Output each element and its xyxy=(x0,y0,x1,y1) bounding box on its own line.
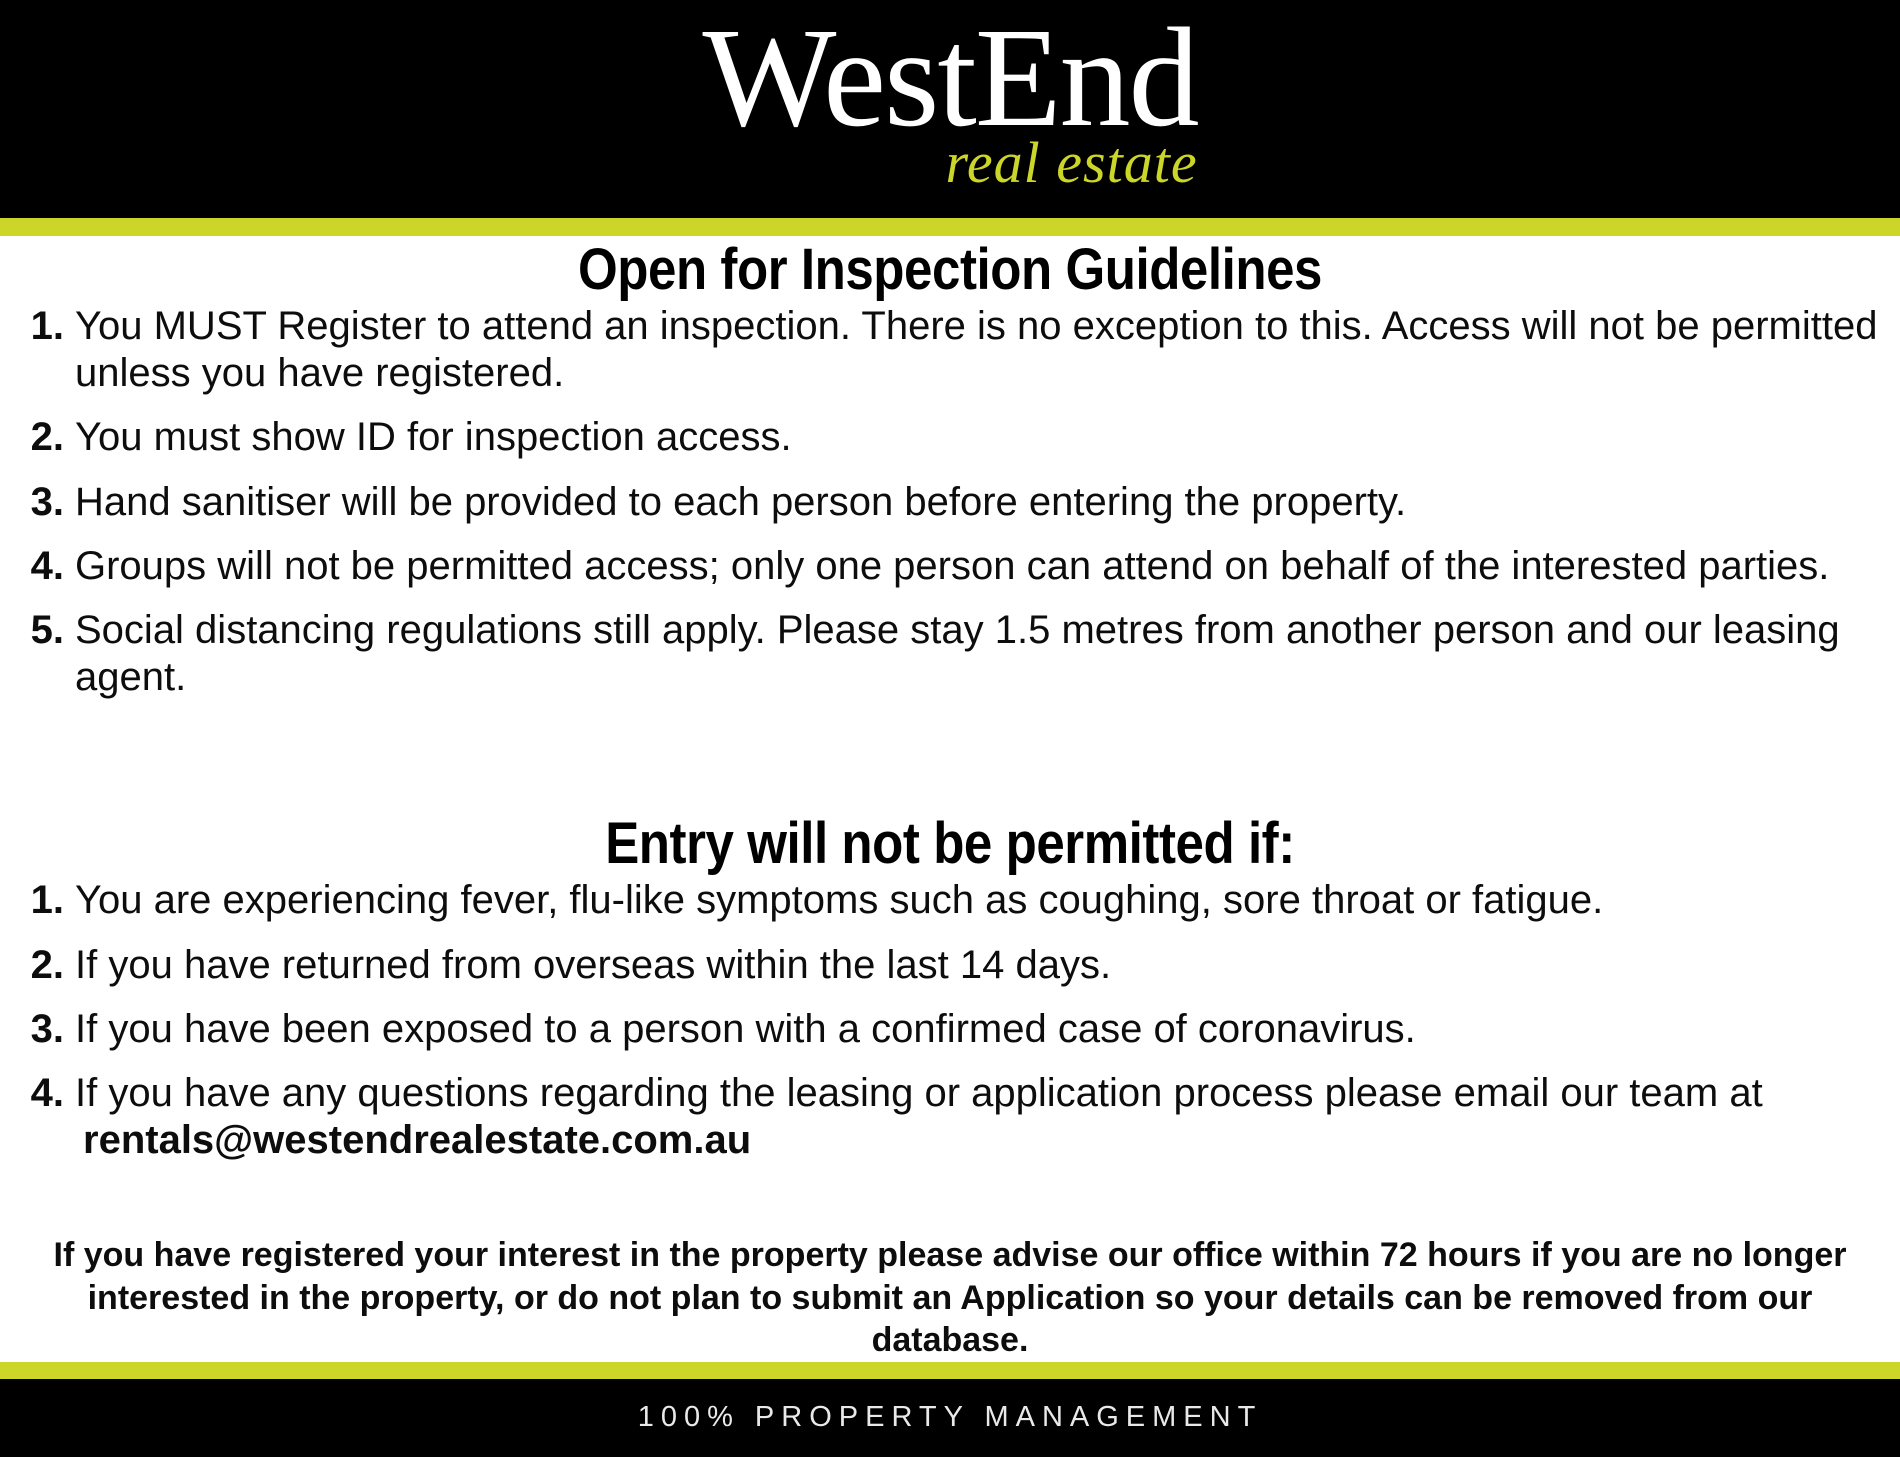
list-item: 2. If you have returned from overseas wi… xyxy=(22,942,1878,989)
list-item-text: Hand sanitiser will be provided to each … xyxy=(75,479,1878,526)
list-item-text: Social distancing regulations still appl… xyxy=(75,607,1878,701)
footer-accent-rule xyxy=(0,1362,1900,1379)
list-item-line: Groups will not be permitted access; onl… xyxy=(75,543,1878,590)
entry-restrictions-list: 1. You are experiencing fever, flu-like … xyxy=(22,877,1878,1164)
footer-tagline: 100% PROPERTY MANAGEMENT xyxy=(638,1401,1263,1434)
list-item: 2. You must show ID for inspection acces… xyxy=(22,414,1878,461)
list-item-number: 4. xyxy=(22,1070,75,1117)
logo: WestEnd real estate xyxy=(0,6,1900,148)
brand-header: WestEnd real estate xyxy=(0,0,1900,218)
main-content: Open for Inspection Guidelines 1. You MU… xyxy=(0,236,1900,1362)
list-item-line: If you have any questions regarding the … xyxy=(75,1070,1878,1117)
list-item-text: You must show ID for inspection access. xyxy=(75,414,1878,461)
list-item: 4. If you have any questions regarding t… xyxy=(22,1070,1878,1164)
list-item-line: unless you have registered. xyxy=(75,350,1878,397)
list-item-text: If you have been exposed to a person wit… xyxy=(75,1006,1878,1053)
list-item-line: You MUST Register to attend an inspectio… xyxy=(75,303,1878,350)
list-item-line: Hand sanitiser will be provided to each … xyxy=(75,479,1878,526)
logo-tagline: real estate xyxy=(946,134,1198,192)
list-item-number: 3. xyxy=(22,1006,75,1053)
list-item-line: If you have returned from overseas withi… xyxy=(75,942,1878,989)
list-item-text: You are experiencing fever, flu-like sym… xyxy=(75,877,1878,924)
footnote-line: If you have registered your interest in … xyxy=(32,1234,1868,1277)
list-item-number: 2. xyxy=(22,942,75,989)
list-item-number: 3. xyxy=(22,479,75,526)
footnote: If you have registered your interest in … xyxy=(22,1234,1878,1362)
section-title-entry: Entry will not be permitted if: xyxy=(133,810,1766,877)
list-item: 4. Groups will not be permitted access; … xyxy=(22,543,1878,590)
list-item-text: Groups will not be permitted access; onl… xyxy=(75,543,1878,590)
section-title-guidelines: Open for Inspection Guidelines xyxy=(133,236,1766,303)
list-item-number: 1. xyxy=(22,303,75,350)
list-item: 5. Social distancing regulations still a… xyxy=(22,607,1878,701)
footnote-line: interested in the property, or do not pl… xyxy=(32,1277,1868,1362)
guidelines-list: 1. You MUST Register to attend an inspec… xyxy=(22,303,1878,701)
list-item: 3. If you have been exposed to a person … xyxy=(22,1006,1878,1053)
list-item-number: 5. xyxy=(22,607,75,654)
list-item-text: If you have returned from overseas withi… xyxy=(75,942,1878,989)
header-accent-rule xyxy=(0,218,1900,236)
section-spacer xyxy=(22,718,1878,810)
footer-bar: 100% PROPERTY MANAGEMENT xyxy=(0,1379,1900,1457)
list-item: 1. You MUST Register to attend an inspec… xyxy=(22,303,1878,397)
list-item-number: 1. xyxy=(22,877,75,924)
contact-email[interactable]: rentals@westendrealestate.com.au xyxy=(75,1117,1878,1164)
list-item-text: You MUST Register to attend an inspectio… xyxy=(75,303,1878,397)
list-item-line: You are experiencing fever, flu-like sym… xyxy=(75,877,1878,924)
list-item-line: You must show ID for inspection access. xyxy=(75,414,1878,461)
list-item: 3. Hand sanitiser will be provided to ea… xyxy=(22,479,1878,526)
list-item-line: If you have been exposed to a person wit… xyxy=(75,1006,1878,1053)
list-item-number: 2. xyxy=(22,414,75,461)
list-item: 1. You are experiencing fever, flu-like … xyxy=(22,877,1878,924)
logo-wordmark: WestEnd real estate xyxy=(702,6,1197,148)
list-item-number: 4. xyxy=(22,543,75,590)
list-item-line: Social distancing regulations still appl… xyxy=(75,607,1878,701)
flyer-page: WestEnd real estate Open for Inspection … xyxy=(0,0,1900,1425)
list-item-text: If you have any questions regarding the … xyxy=(75,1070,1878,1164)
